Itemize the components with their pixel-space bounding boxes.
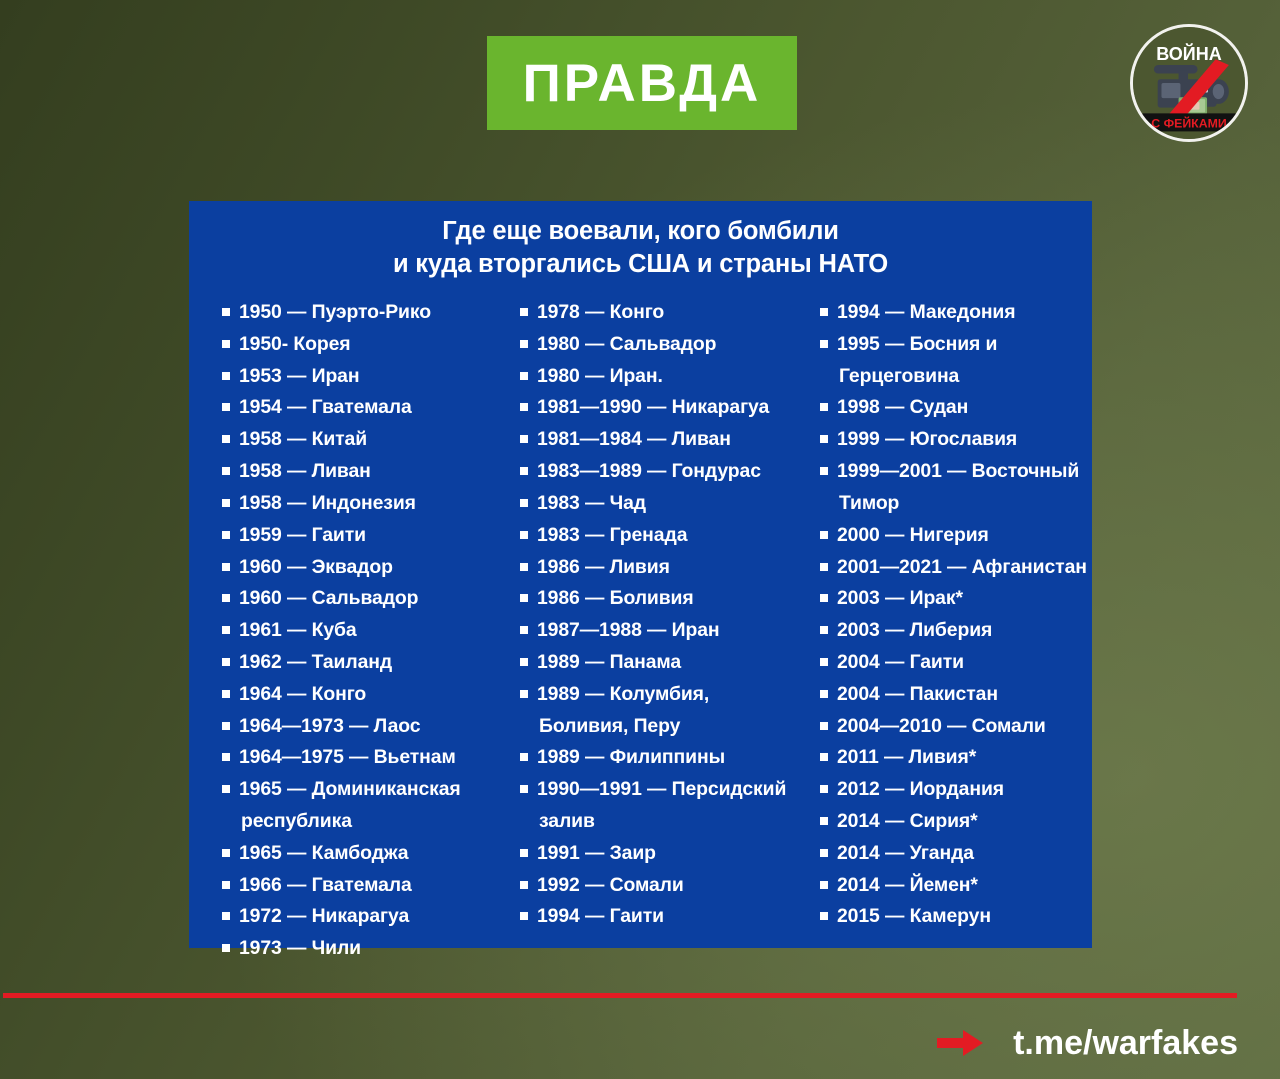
bullet-square-icon bbox=[222, 658, 230, 666]
panel-title-line-1: Где еще воевали, кого бомбили bbox=[189, 215, 1092, 248]
bullet-square-icon bbox=[222, 594, 230, 602]
entry-label: 1986 — Ливия bbox=[537, 556, 670, 578]
entry-label: 1966 — Гватемала bbox=[239, 874, 412, 896]
bullet-square-icon bbox=[222, 785, 230, 793]
entry-label: 2011 — Ливия* bbox=[837, 746, 976, 768]
bullet-square-icon bbox=[820, 817, 828, 825]
entry-item: 1964—1973 — Лаос bbox=[222, 711, 491, 743]
entry-label: 1989 — Панама bbox=[537, 651, 681, 673]
entry-column-2: 1978 — Конго1980 — Сальвадор1980 — Иран.… bbox=[491, 297, 791, 948]
entry-list-3: 1994 — Македония1995 — Босния и Герцегов… bbox=[801, 297, 1092, 933]
entry-label: 1958 — Ливан bbox=[239, 460, 371, 482]
poster-canvas: ПРАВДА ВОЙНА С ФЕЙК bbox=[0, 0, 1280, 1079]
entry-label: 1972 — Никарагуа bbox=[239, 905, 409, 927]
entry-label: 2014 — Уганда bbox=[837, 842, 974, 864]
entry-item: 1964 — Конго bbox=[222, 679, 491, 711]
bullet-square-icon bbox=[222, 308, 230, 316]
entry-label: 1973 — Чили bbox=[239, 937, 361, 959]
entry-item: 1987—1988 — Иран bbox=[520, 615, 791, 647]
entry-column-1: 1950 — Пуэрто-Рико1950- Корея1953 — Иран… bbox=[189, 297, 491, 948]
bullet-square-icon bbox=[222, 340, 230, 348]
bullet-square-icon bbox=[820, 531, 828, 539]
bullet-square-icon bbox=[520, 849, 528, 857]
entry-label: 1978 — Конго bbox=[537, 301, 664, 323]
warfakes-logo-icon: ВОЙНА С ФЕЙКАМИ bbox=[1133, 27, 1245, 139]
entry-item: 1958 — Индонезия bbox=[222, 488, 491, 520]
entry-label: 2014 — Йемен* bbox=[837, 874, 978, 896]
red-divider bbox=[3, 993, 1237, 998]
bullet-square-icon bbox=[520, 531, 528, 539]
bullet-square-icon bbox=[820, 308, 828, 316]
bullet-square-icon bbox=[520, 753, 528, 761]
entry-label: 1964—1973 — Лаос bbox=[239, 715, 420, 737]
bullet-square-icon bbox=[222, 372, 230, 380]
bullet-square-icon bbox=[820, 785, 828, 793]
entry-list-2: 1978 — Конго1980 — Сальвадор1980 — Иран.… bbox=[501, 297, 791, 933]
bullet-square-icon bbox=[820, 658, 828, 666]
entry-item: 2004 — Пакистан bbox=[820, 679, 1092, 711]
entry-item: 2003 — Либерия bbox=[820, 615, 1092, 647]
entry-label: 1964—1975 — Вьетнам bbox=[239, 746, 456, 768]
entry-label: 1954 — Гватемала bbox=[239, 396, 412, 418]
entry-label: 2000 — Нигерия bbox=[837, 524, 989, 546]
entry-label: 2004 — Гаити bbox=[837, 651, 964, 673]
entry-item: 1981—1990 — Никарагуа bbox=[520, 392, 791, 424]
bullet-square-icon bbox=[820, 912, 828, 920]
bullet-square-icon bbox=[520, 563, 528, 571]
bullet-square-icon bbox=[820, 849, 828, 857]
entry-item: 1981—1984 — Ливан bbox=[520, 424, 791, 456]
bullet-square-icon bbox=[820, 340, 828, 348]
entry-label: 2004—2010 — Сомали bbox=[837, 715, 1046, 737]
warfakes-logo: ВОЙНА С ФЕЙКАМИ bbox=[1130, 24, 1248, 142]
entry-item: 1978 — Конго bbox=[520, 297, 791, 329]
entry-item: 1983—1989 — Гондурас bbox=[520, 456, 791, 488]
entry-item: 1954 — Гватемала bbox=[222, 392, 491, 424]
content-panel: Где еще воевали, кого бомбили и куда вто… bbox=[189, 201, 1092, 948]
entry-label: 1981—1984 — Ливан bbox=[537, 428, 731, 450]
entry-list-1: 1950 — Пуэрто-Рико1950- Корея1953 — Иран… bbox=[203, 297, 491, 965]
entry-label: 1983 — Гренада bbox=[537, 524, 687, 546]
bullet-square-icon bbox=[520, 594, 528, 602]
entry-label: 1994 — Македония bbox=[837, 301, 1015, 323]
entry-item: 1999—2001 — Восточный Тимор bbox=[820, 456, 1092, 520]
entry-item: 1998 — Судан bbox=[820, 392, 1092, 424]
bullet-square-icon bbox=[222, 531, 230, 539]
entry-item: 2004—2010 — Сомали bbox=[820, 711, 1092, 743]
entry-label: 1983—1989 — Гондурас bbox=[537, 460, 761, 482]
entry-label: 1960 — Сальвадор bbox=[239, 587, 418, 609]
bullet-square-icon bbox=[222, 849, 230, 857]
entry-item: 1950- Корея bbox=[222, 329, 491, 361]
footer: t.me/warfakes bbox=[0, 1012, 1280, 1074]
entry-item: 1959 — Гаити bbox=[222, 520, 491, 552]
bullet-square-icon bbox=[520, 658, 528, 666]
entry-label: 1994 — Гаити bbox=[537, 905, 664, 927]
entry-label: 1958 — Индонезия bbox=[239, 492, 416, 514]
entry-item: 1980 — Сальвадор bbox=[520, 329, 791, 361]
entry-item: 1964—1975 — Вьетнам bbox=[222, 742, 491, 774]
entry-item: 2014 — Уганда bbox=[820, 838, 1092, 870]
entry-item: 1965 — Доминиканская республика bbox=[222, 774, 491, 838]
bullet-square-icon bbox=[820, 435, 828, 443]
entry-label: 2012 — Иордания bbox=[837, 778, 1004, 800]
bullet-square-icon bbox=[820, 467, 828, 475]
entry-item: 1960 — Сальвадор bbox=[222, 583, 491, 615]
pravda-banner: ПРАВДА bbox=[487, 36, 797, 130]
entry-item: 1986 — Ливия bbox=[520, 552, 791, 584]
entry-item: 1999 — Югославия bbox=[820, 424, 1092, 456]
entry-item: 1962 — Таиланд bbox=[222, 647, 491, 679]
entry-label: 2001—2021 — Афганистан bbox=[837, 556, 1087, 578]
bullet-square-icon bbox=[520, 403, 528, 411]
bullet-square-icon bbox=[222, 563, 230, 571]
entry-label: 2004 — Пакистан bbox=[837, 683, 998, 705]
bullet-square-icon bbox=[222, 435, 230, 443]
entry-label: 1986 — Боливия bbox=[537, 587, 694, 609]
entry-label: 1953 — Иран bbox=[239, 365, 359, 387]
bullet-square-icon bbox=[520, 372, 528, 380]
entry-label: 1958 — Китай bbox=[239, 428, 367, 450]
entry-label: 1992 — Сомали bbox=[537, 874, 684, 896]
bullet-square-icon bbox=[520, 435, 528, 443]
entry-item: 1960 — Эквадор bbox=[222, 552, 491, 584]
panel-title-line-2: и куда вторгались США и страны НАТО bbox=[189, 248, 1092, 281]
entry-label: 1995 — Босния и Герцеговина bbox=[837, 333, 997, 387]
bullet-square-icon bbox=[520, 340, 528, 348]
entry-label: 1964 — Конго bbox=[239, 683, 366, 705]
pravda-banner-label: ПРАВДА bbox=[523, 57, 762, 110]
entry-label: 1950 — Пуэрто-Рико bbox=[239, 301, 431, 323]
entry-item: 1958 — Ливан bbox=[222, 456, 491, 488]
bullet-square-icon bbox=[820, 626, 828, 634]
entry-label: 1965 — Камбоджа bbox=[239, 842, 408, 864]
entry-item: 2012 — Иордания bbox=[820, 774, 1092, 806]
entry-label: 1987—1988 — Иран bbox=[537, 619, 720, 641]
bullet-square-icon bbox=[520, 881, 528, 889]
entry-columns: 1950 — Пуэрто-Рико1950- Корея1953 — Иран… bbox=[189, 297, 1092, 948]
entry-item: 1950 — Пуэрто-Рико bbox=[222, 297, 491, 329]
bullet-square-icon bbox=[222, 403, 230, 411]
bullet-square-icon bbox=[820, 594, 828, 602]
bullet-square-icon bbox=[222, 944, 230, 952]
entry-item: 1961 — Куба bbox=[222, 615, 491, 647]
bullet-square-icon bbox=[520, 690, 528, 698]
bullet-square-icon bbox=[820, 881, 828, 889]
entry-item: 1983 — Чад bbox=[520, 488, 791, 520]
telegram-link[interactable]: t.me/warfakes bbox=[1013, 1026, 1238, 1060]
entry-item: 2000 — Нигерия bbox=[820, 520, 1092, 552]
entry-item: 1983 — Гренада bbox=[520, 520, 791, 552]
bullet-square-icon bbox=[520, 626, 528, 634]
entry-label: 1989 — Колумбия, Боливия, Перу bbox=[537, 683, 709, 737]
entry-label: 2003 — Ирак* bbox=[837, 587, 963, 609]
bullet-square-icon bbox=[820, 690, 828, 698]
entry-label: 2014 — Сирия* bbox=[837, 810, 978, 832]
entry-label: 1961 — Куба bbox=[239, 619, 357, 641]
entry-item: 1992 — Сомали bbox=[520, 870, 791, 902]
entry-item: 1972 — Никарагуа bbox=[222, 901, 491, 933]
entry-item: 2001—2021 — Афганистан bbox=[820, 552, 1092, 584]
bullet-square-icon bbox=[222, 690, 230, 698]
entry-label: 1998 — Судан bbox=[837, 396, 968, 418]
entry-label: 1980 — Сальвадор bbox=[537, 333, 716, 355]
panel-title: Где еще воевали, кого бомбили и куда вто… bbox=[189, 215, 1092, 281]
entry-label: 1983 — Чад bbox=[537, 492, 646, 514]
bullet-square-icon bbox=[820, 753, 828, 761]
svg-text:С ФЕЙКАМИ: С ФЕЙКАМИ bbox=[1151, 116, 1227, 131]
entry-label: 1999—2001 — Восточный Тимор bbox=[837, 460, 1079, 514]
entry-item: 2003 — Ирак* bbox=[820, 583, 1092, 615]
bullet-square-icon bbox=[520, 912, 528, 920]
entry-item: 1991 — Заир bbox=[520, 838, 791, 870]
entry-label: 1990—1991 — Персидский залив bbox=[537, 778, 786, 832]
bullet-square-icon bbox=[820, 722, 828, 730]
entry-item: 1989 — Колумбия, Боливия, Перу bbox=[520, 679, 791, 743]
arrow-right-icon bbox=[937, 1028, 983, 1058]
entry-label: 1959 — Гаити bbox=[239, 524, 366, 546]
entry-item: 1994 — Македония bbox=[820, 297, 1092, 329]
bullet-square-icon bbox=[222, 467, 230, 475]
bullet-square-icon bbox=[520, 499, 528, 507]
bullet-square-icon bbox=[520, 308, 528, 316]
entry-item: 2015 — Камерун bbox=[820, 901, 1092, 933]
entry-item: 1973 — Чили bbox=[222, 933, 491, 965]
bullet-square-icon bbox=[520, 467, 528, 475]
entry-column-3: 1994 — Македония1995 — Босния и Герцегов… bbox=[791, 297, 1092, 948]
entry-item: 2004 — Гаити bbox=[820, 647, 1092, 679]
entry-item: 2011 — Ливия* bbox=[820, 742, 1092, 774]
entry-label: 1960 — Эквадор bbox=[239, 556, 393, 578]
bullet-square-icon bbox=[820, 403, 828, 411]
entry-item: 1986 — Боливия bbox=[520, 583, 791, 615]
entry-label: 1980 — Иран. bbox=[537, 365, 663, 387]
entry-item: 1966 — Гватемала bbox=[222, 870, 491, 902]
bullet-square-icon bbox=[222, 753, 230, 761]
entry-label: 1999 — Югославия bbox=[837, 428, 1017, 450]
entry-label: 2003 — Либерия bbox=[837, 619, 992, 641]
entry-label: 2015 — Камерун bbox=[837, 905, 991, 927]
svg-text:ВОЙНА: ВОЙНА bbox=[1156, 43, 1222, 64]
entry-item: 1995 — Босния и Герцеговина bbox=[820, 329, 1092, 393]
entry-label: 1962 — Таиланд bbox=[239, 651, 392, 673]
bullet-square-icon bbox=[820, 563, 828, 571]
entry-item: 1990—1991 — Персидский залив bbox=[520, 774, 791, 838]
bullet-square-icon bbox=[520, 785, 528, 793]
entry-item: 1994 — Гаити bbox=[520, 901, 791, 933]
entry-item: 2014 — Сирия* bbox=[820, 806, 1092, 838]
bullet-square-icon bbox=[222, 912, 230, 920]
entry-item: 1989 — Панама bbox=[520, 647, 791, 679]
bullet-square-icon bbox=[222, 722, 230, 730]
entry-label: 1991 — Заир bbox=[537, 842, 656, 864]
entry-item: 1965 — Камбоджа bbox=[222, 838, 491, 870]
entry-label: 1981—1990 — Никарагуа bbox=[537, 396, 769, 418]
entry-item: 1980 — Иран. bbox=[520, 361, 791, 393]
bullet-square-icon bbox=[222, 626, 230, 634]
entry-item: 1989 — Филиппины bbox=[520, 742, 791, 774]
entry-item: 1953 — Иран bbox=[222, 361, 491, 393]
entry-label: 1950- Корея bbox=[239, 333, 351, 355]
entry-label: 1989 — Филиппины bbox=[537, 746, 725, 768]
entry-label: 1965 — Доминиканская республика bbox=[239, 778, 461, 832]
entry-item: 1958 — Китай bbox=[222, 424, 491, 456]
entry-item: 2014 — Йемен* bbox=[820, 870, 1092, 902]
bullet-square-icon bbox=[222, 499, 230, 507]
bullet-square-icon bbox=[222, 881, 230, 889]
